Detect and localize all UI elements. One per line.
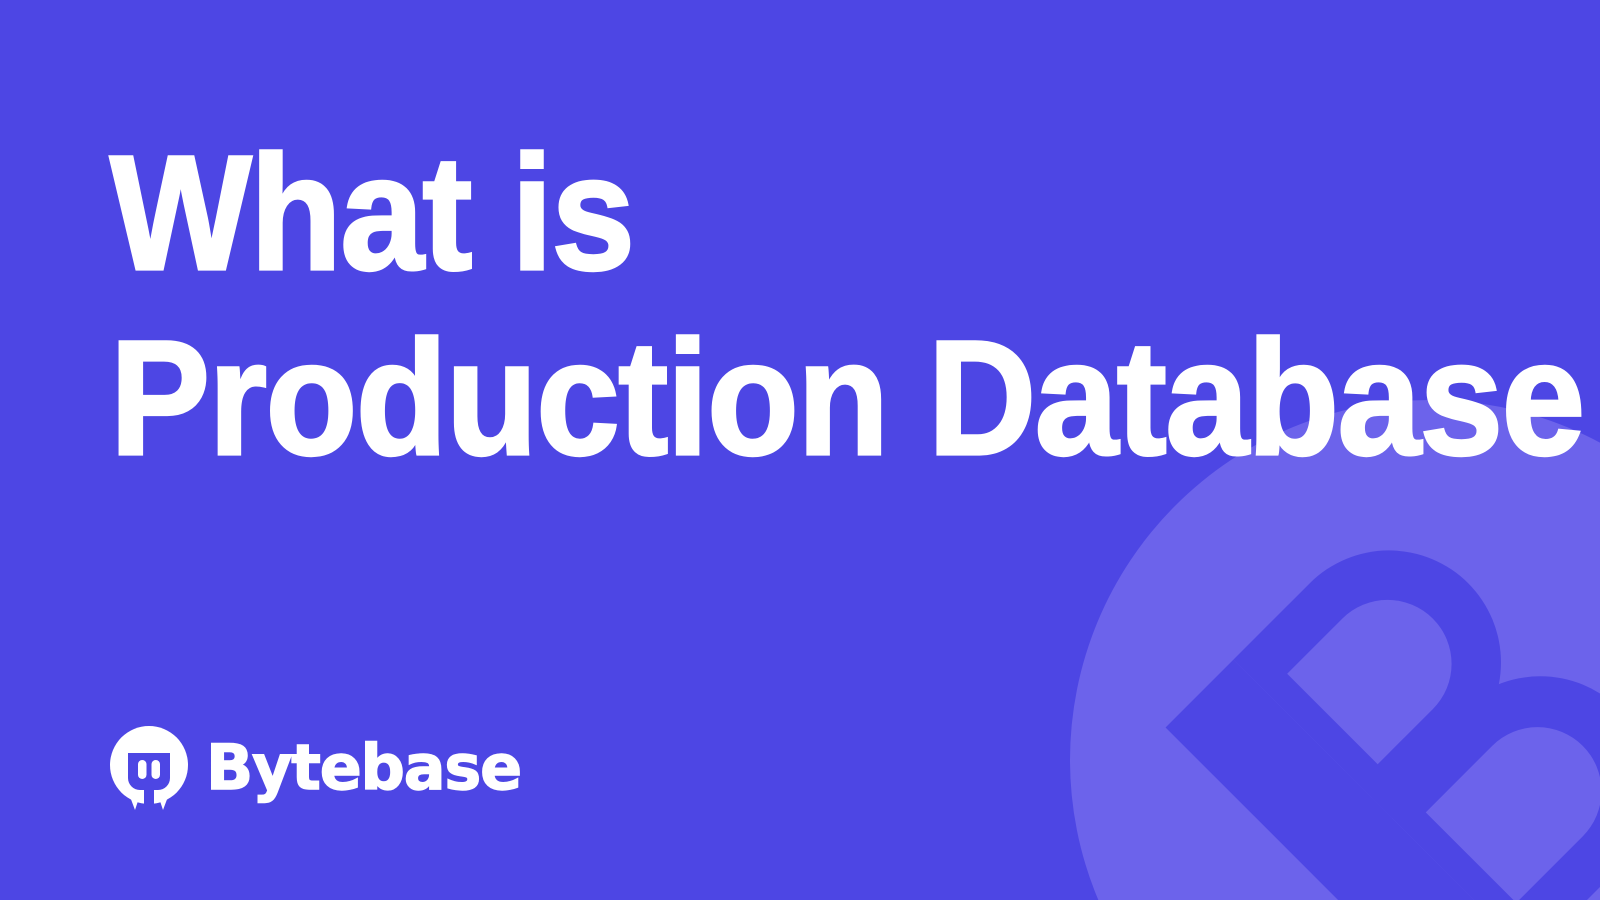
brand-wordmark: Bytebase bbox=[206, 737, 521, 799]
social-card-canvas: What is Production Database Bytebase bbox=[0, 0, 1600, 900]
headline-line-1: What is bbox=[110, 120, 1416, 305]
headline-line-2: Production Database bbox=[110, 305, 1416, 490]
bytebase-logo-icon bbox=[110, 726, 188, 810]
brand-lockup: Bytebase bbox=[110, 726, 521, 810]
page-title: What is Production Database bbox=[110, 120, 1530, 490]
